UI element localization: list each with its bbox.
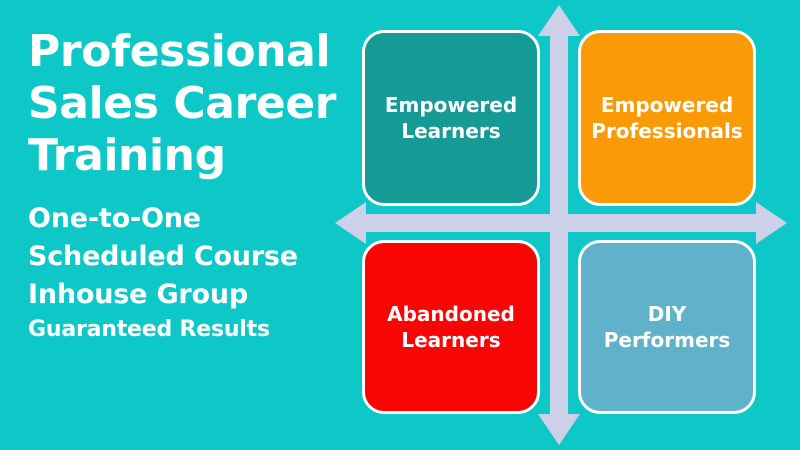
title-line-2: Sales Career	[28, 78, 348, 130]
quadrant-abandoned-learners[interactable]: Abandoned Learners	[362, 240, 540, 414]
quadrant-label: Abandoned Learners	[379, 301, 523, 353]
quadrant-label: DIY Performers	[596, 301, 739, 353]
offering-scheduled-course: Scheduled Course	[28, 238, 348, 276]
title-line-1: Professional	[28, 26, 348, 78]
quadrant-label: Empowered Learners	[377, 92, 525, 144]
offering-inhouse-group: Inhouse Group	[28, 276, 348, 314]
quadrant-label-line-1: Abandoned	[387, 302, 515, 326]
quadrant-label-line-1: Empowered	[385, 93, 517, 117]
offerings-list: One-to-One Scheduled Course Inhouse Grou…	[28, 200, 348, 346]
quadrant-label-line-2: Learners	[387, 327, 515, 353]
quadrant-empowered-learners[interactable]: Empowered Learners	[362, 30, 540, 206]
quadrant-empowered-professionals[interactable]: Empowered Professionals	[578, 30, 756, 206]
offering-one-to-one: One-to-One	[28, 200, 348, 238]
title-line-3: Training	[28, 130, 348, 182]
right-arrow-icon	[756, 202, 787, 244]
headline-panel: Professional Sales Career Training One-t…	[28, 26, 348, 346]
quadrant-label-line-2: Performers	[604, 327, 731, 353]
quadrant-label: Empowered Professionals	[583, 92, 750, 144]
quadrant-label-line-2: Professionals	[591, 118, 742, 144]
quadrant-label-line-1: DIY	[648, 302, 687, 326]
slide-canvas: Professional Sales Career Training One-t…	[0, 0, 800, 450]
quadrant-label-line-1: Empowered	[601, 93, 733, 117]
up-arrow-icon	[538, 5, 580, 414]
quadrant-diy-performers[interactable]: DIY Performers	[578, 240, 756, 414]
tagline: Guaranteed Results	[28, 314, 348, 346]
page-title: Professional Sales Career Training	[28, 26, 348, 182]
quadrant-label-line-2: Learners	[385, 118, 517, 144]
down-arrow-icon	[538, 414, 580, 445]
